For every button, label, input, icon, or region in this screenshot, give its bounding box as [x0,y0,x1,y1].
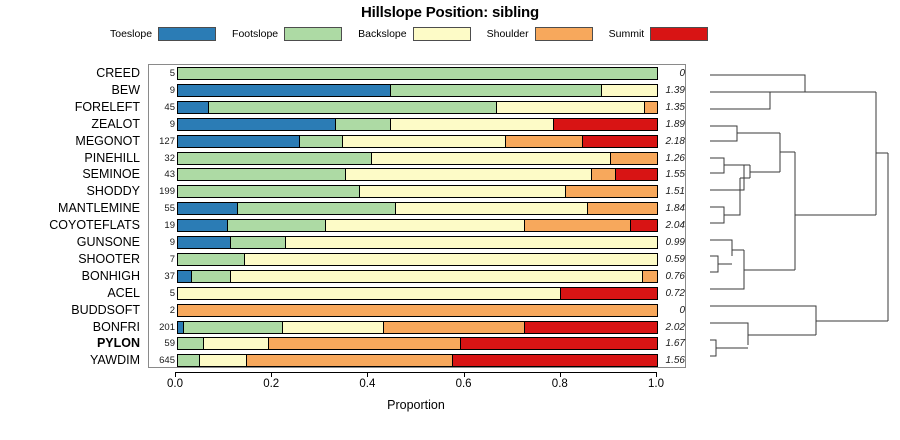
bar-segment[interactable] [269,338,461,349]
y-axis-label-zealot: ZEALOT [0,116,140,132]
bar-segment[interactable] [326,220,525,231]
row-n-value: 9 [149,235,175,251]
stacked-bar[interactable] [177,67,658,80]
bar-segment[interactable] [497,102,645,113]
y-axis-label-shoddy: SHODDY [0,183,140,199]
bar-segment[interactable] [192,271,230,282]
legend-item-summit: Summit [609,27,709,41]
bar-row[interactable]: 2012.02 [149,320,687,336]
bar-segment[interactable] [588,203,657,214]
row-n-value: 37 [149,269,175,285]
row-h-value: 1.35 [651,100,685,116]
bar-segment[interactable] [178,220,228,231]
bar-row[interactable]: 451.35 [149,100,687,116]
bar-segment[interactable] [300,136,343,147]
bar-segment[interactable] [178,271,192,282]
y-axis-label-seminoe: SEMINOE [0,166,140,182]
dendrogram-svg [700,60,900,380]
bar-segment[interactable] [384,322,525,333]
bar-row[interactable]: 91.89 [149,117,687,133]
row-n-value: 127 [149,134,175,150]
x-axis-tick [560,372,561,377]
row-h-value: 2.02 [651,320,685,336]
bar-segment[interactable] [178,136,300,147]
x-axis-title: Proportion [175,398,657,412]
row-h-value: 1.89 [651,117,685,133]
y-axis-label-pylon: PYLON [0,335,140,351]
stacked-bar[interactable] [177,354,658,367]
y-axis-label-bew: BEW [0,82,140,98]
bar-segment[interactable] [178,153,372,164]
row-h-value: 0 [651,66,685,82]
row-n-value: 9 [149,83,175,99]
page-title: Hillslope Position: sibling [0,4,900,21]
bar-segment[interactable] [178,203,238,214]
bar-segment[interactable] [461,338,657,349]
bar-segment[interactable] [178,355,200,366]
bar-row[interactable]: 1991.51 [149,184,687,200]
y-axis-label-buddsoft: BUDDSOFT [0,302,140,318]
bar-segment[interactable] [184,322,284,333]
x-axis-tick-label: 1.0 [636,378,676,390]
bar-segment[interactable] [525,220,630,231]
y-axis-label-gunsone: GUNSONE [0,234,140,250]
x-axis-tick [464,372,465,377]
stacked-bar[interactable] [177,304,658,317]
bar-row[interactable]: 1272.18 [149,134,687,150]
bar-segment[interactable] [283,322,384,333]
bar-segment[interactable] [231,237,286,248]
row-n-value: 645 [149,353,175,369]
bar-segment[interactable] [178,338,204,349]
x-axis-tick [175,372,176,377]
row-h-value: 1.55 [651,167,685,183]
row-n-value: 9 [149,117,175,133]
legend: ToeslopeFootslopeBackslopeShoulderSummit [110,25,730,43]
stacked-bar[interactable] [177,236,658,249]
bar-segment[interactable] [178,186,360,197]
legend-label: Summit [609,28,645,40]
y-axis-label-bonfri: BONFRI [0,319,140,335]
y-axis-label-creed: CREED [0,65,140,81]
row-h-value: 1.39 [651,83,685,99]
bar-row[interactable]: 50 [149,66,687,82]
x-axis-line [175,372,657,373]
row-n-value: 43 [149,167,175,183]
row-h-value: 1.51 [651,184,685,200]
bar-row[interactable]: 370.76 [149,269,687,285]
bar-segment[interactable] [525,322,657,333]
row-n-value: 19 [149,218,175,234]
legend-swatch [284,27,342,41]
row-n-value: 55 [149,201,175,217]
bar-rows: 5091.39451.3591.891272.18321.26431.55199… [149,65,687,369]
bar-segment[interactable] [391,85,602,96]
stacked-bar[interactable] [177,118,658,131]
stacked-bar[interactable] [177,152,658,165]
stacked-bar[interactable] [177,84,658,97]
y-axis-label-yawdim: YAWDIM [0,352,140,368]
x-axis-tick [656,372,657,377]
stacked-bar[interactable] [177,321,658,334]
bar-segment[interactable] [200,355,248,366]
row-h-value: 0.99 [651,235,685,251]
row-n-value: 199 [149,184,175,200]
row-h-value: 1.56 [651,353,685,369]
bar-segment[interactable] [209,102,496,113]
bar-segment[interactable] [396,203,588,214]
stacked-bar[interactable] [177,168,658,181]
bar-segment[interactable] [506,136,583,147]
bar-row[interactable]: 321.26 [149,151,687,167]
row-n-value: 59 [149,336,175,352]
bar-segment[interactable] [178,288,561,299]
plot-canvas: Hillslope Position: sibling ToeslopeFoot… [0,0,900,440]
bar-segment[interactable] [372,153,612,164]
bar-segment[interactable] [566,186,657,197]
row-n-value: 45 [149,100,175,116]
legend-item-toeslope: Toeslope [110,27,216,41]
row-h-value: 0.72 [651,286,685,302]
bar-segment[interactable] [343,136,506,147]
y-axis-label-megonot: MEGONOT [0,133,140,149]
stacked-bar[interactable] [177,253,658,266]
bar-segment[interactable] [554,119,657,130]
row-h-value: 0.76 [651,269,685,285]
bar-row[interactable]: 90.99 [149,235,687,251]
bar-segment[interactable] [238,203,396,214]
bar-row[interactable]: 20 [149,303,687,319]
bar-segment[interactable] [346,169,593,180]
row-n-value: 2 [149,303,175,319]
row-n-value: 5 [149,286,175,302]
row-h-value: 1.84 [651,201,685,217]
bar-row[interactable]: 192.04 [149,218,687,234]
row-h-value: 1.26 [651,151,685,167]
x-axis-tick-label: 0.6 [444,378,484,390]
stacked-bar[interactable] [177,337,658,350]
bar-segment[interactable] [336,119,391,130]
stacked-bar-panel: 5091.39451.3591.891272.18321.26431.55199… [148,64,686,368]
x-axis-tick [367,372,368,377]
row-n-value: 201 [149,320,175,336]
bar-segment[interactable] [178,102,209,113]
stacked-bar[interactable] [177,219,658,232]
bar-row[interactable]: 591.67 [149,336,687,352]
stacked-bar[interactable] [177,287,658,300]
row-n-value: 7 [149,252,175,268]
stacked-bar[interactable] [177,101,658,114]
bar-row[interactable]: 70.59 [149,252,687,268]
y-axis-label-acel: ACEL [0,285,140,301]
x-axis-tick-label: 0.0 [155,378,195,390]
bar-segment[interactable] [178,119,336,130]
bar-row[interactable]: 551.84 [149,201,687,217]
x-axis-tick [271,372,272,377]
bar-segment[interactable] [592,169,616,180]
legend-swatch [535,27,593,41]
row-n-value: 32 [149,151,175,167]
dendrogram [700,60,900,380]
legend-swatch [158,27,216,41]
bar-row[interactable]: 91.39 [149,83,687,99]
stacked-bar[interactable] [177,185,658,198]
bar-segment[interactable] [247,355,453,366]
y-axis-label-mantlemine: MANTLEMINE [0,200,140,216]
legend-item-shoulder: Shoulder [487,27,593,41]
stacked-bar[interactable] [177,202,658,215]
bar-row[interactable]: 50.72 [149,286,687,302]
bar-segment[interactable] [178,237,231,248]
bar-segment[interactable] [245,254,657,265]
legend-label: Footslope [232,28,278,40]
row-h-value: 0 [651,303,685,319]
row-h-value: 1.67 [651,336,685,352]
bar-segment[interactable] [602,85,657,96]
row-h-value: 2.18 [651,134,685,150]
bar-segment[interactable] [231,271,643,282]
legend-label: Shoulder [487,28,529,40]
legend-swatch [650,27,708,41]
row-h-value: 0.59 [651,252,685,268]
bar-row[interactable]: 6451.56 [149,353,687,369]
bar-segment[interactable] [360,186,566,197]
bar-row[interactable]: 431.55 [149,167,687,183]
bar-segment[interactable] [453,355,657,366]
bar-segment[interactable] [178,305,657,316]
legend-swatch [413,27,471,41]
bar-segment[interactable] [391,119,554,130]
bar-segment[interactable] [204,338,269,349]
row-h-value: 2.04 [651,218,685,234]
y-axis-label-pinehill: PINEHILL [0,150,140,166]
bar-segment[interactable] [228,220,326,231]
stacked-bar[interactable] [177,270,658,283]
bar-segment[interactable] [561,288,657,299]
x-axis-tick-label: 0.4 [347,378,387,390]
legend-item-footslope: Footslope [232,27,342,41]
legend-label: Backslope [358,28,406,40]
x-axis-tick-label: 0.2 [251,378,291,390]
legend-item-backslope: Backslope [358,27,470,41]
bar-segment[interactable] [583,136,657,147]
bar-segment[interactable] [178,169,346,180]
row-n-value: 5 [149,66,175,82]
y-axis-label-shooter: SHOOTER [0,251,140,267]
y-axis-label-foreleft: FORELEFT [0,99,140,115]
stacked-bar[interactable] [177,135,658,148]
bar-segment[interactable] [178,68,657,79]
y-axis-labels: CREEDBEWFORELEFTZEALOTMEGONOTPINEHILLSEM… [0,64,144,368]
bar-segment[interactable] [178,85,391,96]
bar-segment[interactable] [178,254,245,265]
x-axis-tick-label: 0.8 [540,378,580,390]
y-axis-label-coyoteflats: COYOTEFLATS [0,217,140,233]
y-axis-label-bonhigh: BONHIGH [0,268,140,284]
legend-label: Toeslope [110,28,152,40]
bar-segment[interactable] [286,237,657,248]
